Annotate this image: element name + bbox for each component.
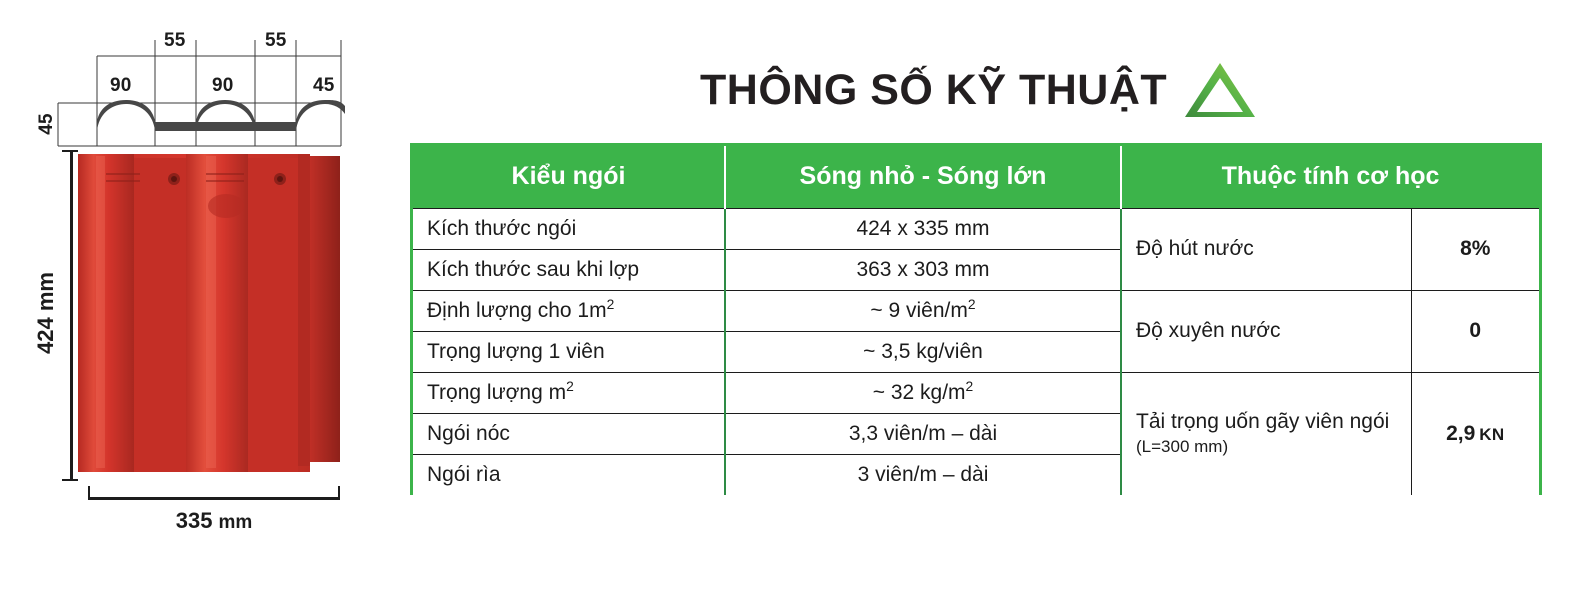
row-value: ~ 9 viên/m2 — [725, 290, 1121, 331]
property-name-note: (L=300 mm) — [1136, 437, 1228, 456]
header-kieu-ngoi: Kiểu ngói — [413, 146, 725, 208]
tile-height-label: 424 mm — [33, 258, 59, 368]
property-value-unit: KN — [1479, 425, 1504, 444]
row-label: Trọng lượng 1 viên — [413, 331, 725, 372]
tile-width-number: 335 — [176, 508, 213, 533]
row-value: 363 x 303 mm — [725, 249, 1121, 290]
tile-profile-diagram — [0, 18, 400, 168]
row-label: Định lượng cho 1m2 — [413, 290, 725, 331]
property-name: Độ hút nước — [1121, 208, 1411, 290]
triangle-logo-icon — [1183, 61, 1257, 119]
row-value: 3,3 viên/m – dài — [725, 413, 1121, 454]
row-label: Ngói nóc — [413, 413, 725, 454]
tile-photo — [78, 148, 340, 480]
header-thuoc-tinh-co-hoc: Thuộc tính cơ học — [1121, 146, 1539, 208]
table-header-row: Kiểu ngói Sóng nhỏ - Sóng lớn Thuộc tính… — [413, 146, 1539, 208]
dim-top-55-a: 55 — [164, 30, 186, 52]
height-dimension-line — [70, 150, 73, 480]
width-dimension-line — [88, 497, 340, 500]
row-value: 424 x 335 mm — [725, 208, 1121, 249]
row-label: Kích thước sau khi lợp — [413, 249, 725, 290]
dim-mid-45: 45 — [313, 75, 335, 97]
property-value: 2,9KN — [1411, 372, 1539, 495]
dim-height-45: 45 — [36, 109, 58, 139]
spec-sheet-page: 55 55 90 90 45 45 — [0, 0, 1574, 591]
dim-mid-90-a: 90 — [110, 75, 132, 97]
row-label: Kích thước ngói — [413, 208, 725, 249]
table-row: Trọng lượng m2 ~ 32 kg/m2 Tải trọng uốn … — [413, 372, 1539, 413]
table-row: Kích thước ngói 424 x 335 mm Độ hút nước… — [413, 208, 1539, 249]
row-value: 3 viên/m – dài — [725, 454, 1121, 495]
tile-width-unit: mm — [218, 512, 252, 533]
row-label: Ngói rìa — [413, 454, 725, 495]
page-title-row: THÔNG SỐ KỸ THUẬT — [700, 58, 1300, 122]
property-value: 8% — [1411, 208, 1539, 290]
table-row: Định lượng cho 1m2 ~ 9 viên/m2 Độ xuyên … — [413, 290, 1539, 331]
property-name: Tải trọng uốn gãy viên ngói (L=300 mm) — [1121, 372, 1411, 495]
row-label: Trọng lượng m2 — [413, 372, 725, 413]
property-value-number: 2,9 — [1446, 422, 1475, 445]
tile-width-label: 335mm — [88, 508, 340, 534]
specifications-table: Kiểu ngói Sóng nhỏ - Sóng lớn Thuộc tính… — [410, 143, 1542, 495]
header-song-nho-song-lon: Sóng nhỏ - Sóng lớn — [725, 146, 1121, 208]
row-value: ~ 32 kg/m2 — [725, 372, 1121, 413]
row-value: ~ 3,5 kg/viên — [725, 331, 1121, 372]
property-name-text: Tải trọng uốn gãy viên ngói — [1136, 410, 1389, 433]
dim-mid-90-b: 90 — [212, 75, 234, 97]
technical-drawing: 55 55 90 90 45 45 — [0, 0, 400, 591]
property-name: Độ xuyên nước — [1121, 290, 1411, 372]
page-title: THÔNG SỐ KỸ THUẬT — [700, 66, 1167, 115]
dim-top-55-b: 55 — [265, 30, 287, 52]
property-value: 0 — [1411, 290, 1539, 372]
